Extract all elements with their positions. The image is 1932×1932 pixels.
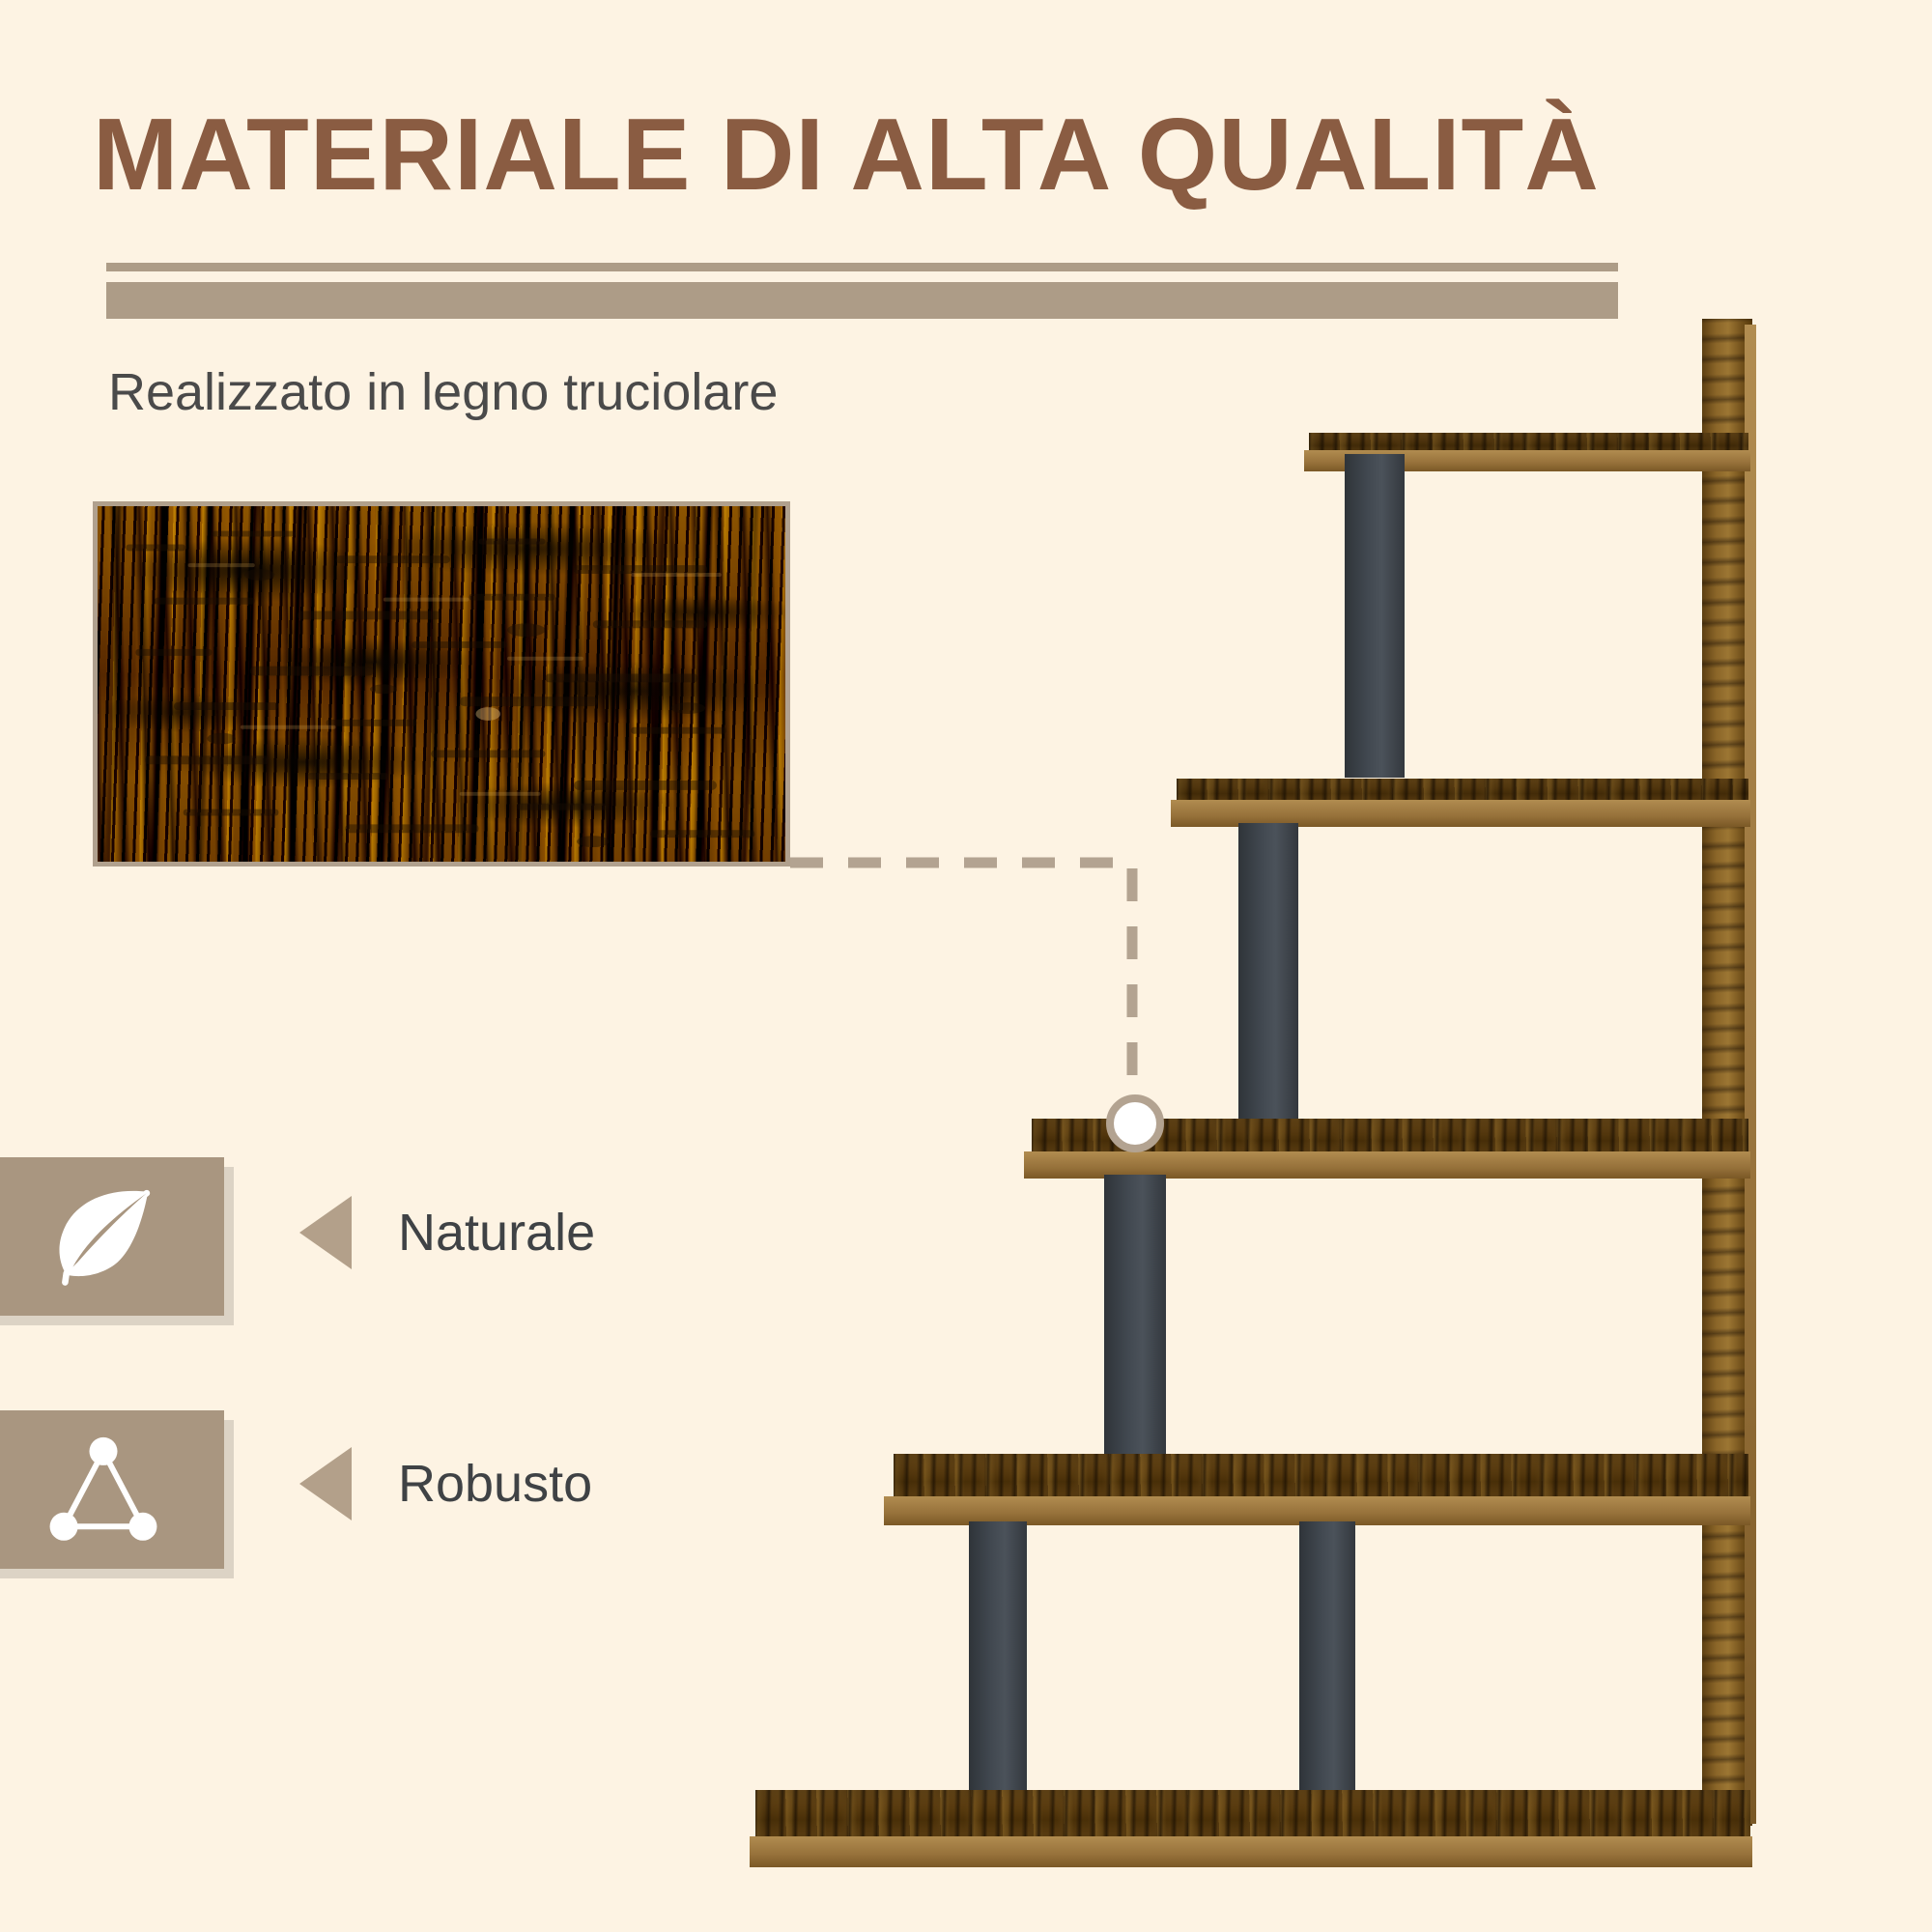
metal-post-2: [1238, 823, 1298, 1132]
feature-label-naturale: Naturale: [398, 1203, 595, 1263]
bookshelf-illustration: [0, 0, 1932, 1932]
wood-speckle-layer: [98, 506, 785, 867]
shelf-base-board: [755, 1790, 1750, 1840]
shelf-base-edge: [750, 1836, 1752, 1867]
metal-post-4b: [1299, 1521, 1355, 1821]
triangle-left-icon: [299, 1196, 352, 1269]
callout-marker-dot: [1106, 1094, 1164, 1152]
shelf-board-4: [894, 1454, 1748, 1500]
metal-post-3: [1104, 1175, 1166, 1474]
wood-texture-swatch: [93, 501, 790, 867]
metal-post-4a: [969, 1521, 1027, 1821]
poster-canvas: MATERIALE DI ALTA QUALITÀ Realizzato in …: [0, 0, 1932, 1932]
leaf-icon: [40, 1173, 167, 1300]
triangle-nodes-icon: [40, 1426, 167, 1553]
feature-row-robusto: Robusto: [299, 1447, 592, 1520]
feature-badge-naturale[interactable]: [0, 1157, 224, 1316]
feature-label-robusto: Robusto: [398, 1454, 592, 1514]
shelf-right-upright-edge: [1745, 325, 1756, 1824]
feature-row-naturale: Naturale: [299, 1196, 595, 1269]
triangle-left-icon: [299, 1447, 352, 1520]
feature-badge-robusto[interactable]: [0, 1410, 224, 1569]
metal-post-1: [1345, 454, 1405, 778]
